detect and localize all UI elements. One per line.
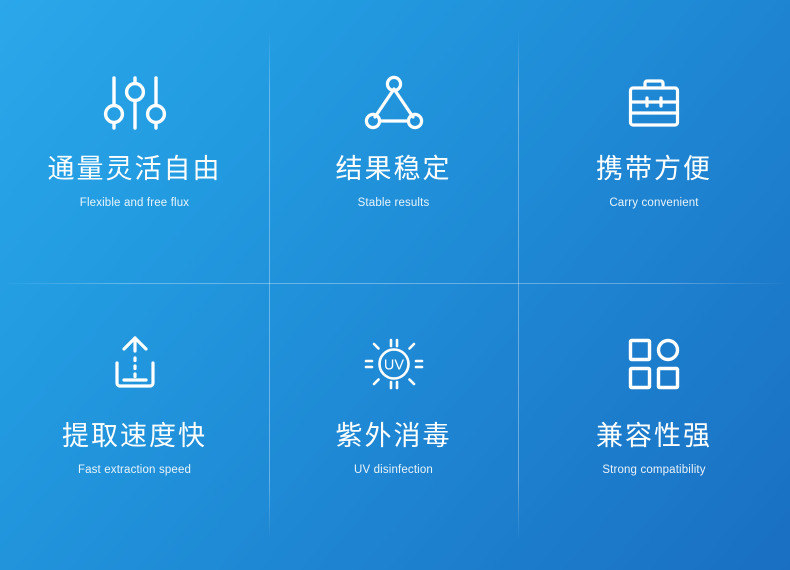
feature-cell-flexible-flux: 通量灵活自由 Flexible and free flux bbox=[0, 0, 269, 283]
feature-title: 结果稳定 bbox=[336, 156, 452, 183]
feature-cell-carry-convenient: 携带方便 Carry convenient bbox=[518, 0, 790, 283]
sliders-icon bbox=[97, 72, 173, 134]
feature-subtitle: Strong compatibility bbox=[602, 465, 705, 477]
uv-sun-icon: UV bbox=[356, 331, 432, 397]
upload-extract-icon bbox=[97, 331, 173, 397]
feature-title: 通量灵活自由 bbox=[48, 156, 222, 183]
uv-icon-label: UV bbox=[383, 358, 403, 374]
feature-grid: 通量灵活自由 Flexible and free flux bbox=[0, 0, 790, 570]
triangle-nodes-icon bbox=[356, 72, 432, 134]
feature-cell-stable-results: 结果稳定 Stable results bbox=[269, 0, 518, 283]
feature-subtitle: UV disinfection bbox=[354, 465, 433, 477]
feature-title: 紫外消毒 bbox=[336, 423, 452, 450]
feature-subtitle: Fast extraction speed bbox=[78, 465, 191, 477]
feature-title: 提取速度快 bbox=[62, 423, 207, 450]
feature-cell-strong-compatibility: 兼容性强 Strong compatibility bbox=[518, 283, 790, 570]
grid-shapes-icon bbox=[616, 331, 692, 397]
feature-cell-fast-extraction: 提取速度快 Fast extraction speed bbox=[0, 283, 269, 570]
toolbox-icon bbox=[616, 72, 692, 134]
feature-title: 兼容性强 bbox=[596, 423, 712, 450]
feature-subtitle: Flexible and free flux bbox=[80, 198, 189, 210]
feature-subtitle: Stable results bbox=[358, 198, 430, 210]
feature-cell-uv-disinfection: UV bbox=[269, 283, 518, 570]
feature-highlights-panel: 通量灵活自由 Flexible and free flux bbox=[0, 0, 790, 570]
feature-title: 携带方便 bbox=[596, 156, 712, 183]
feature-subtitle: Carry convenient bbox=[609, 198, 698, 210]
